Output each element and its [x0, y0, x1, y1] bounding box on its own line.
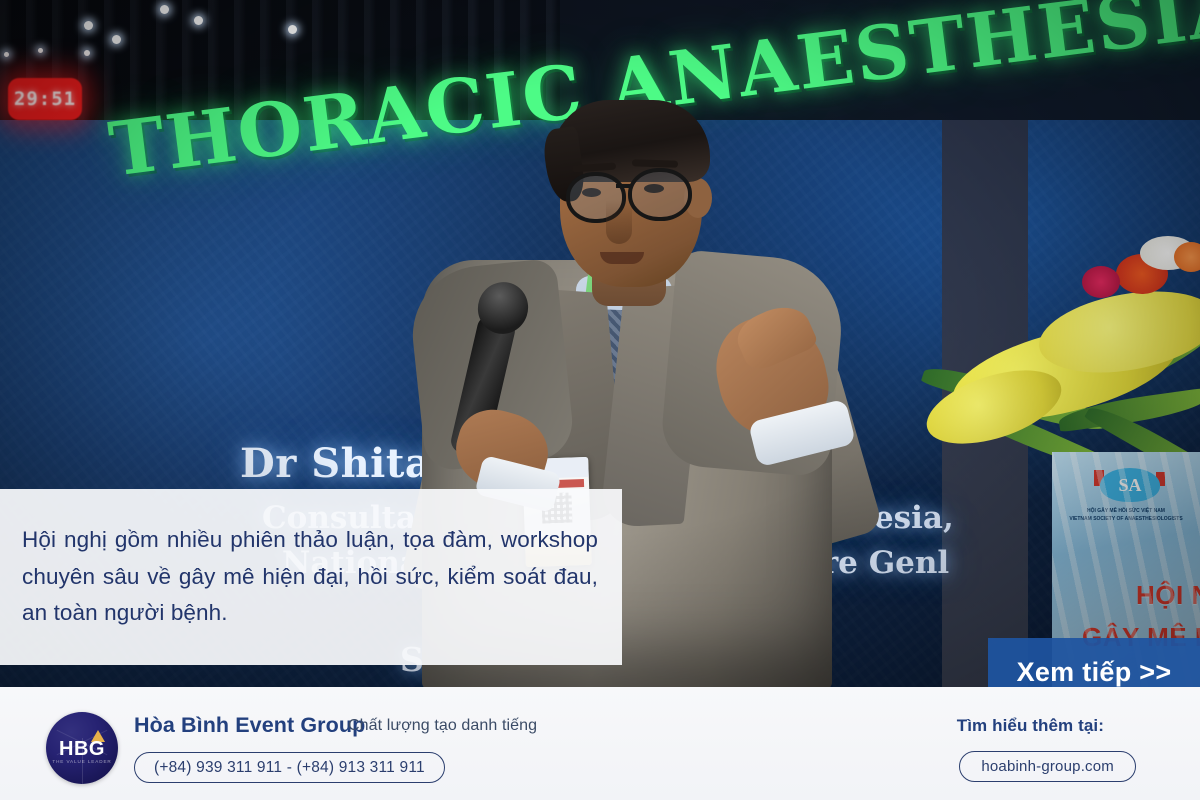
hbg-logo: HBG THE VALUE LEADER	[46, 712, 118, 784]
brand-name: Hòa Bình Event Group	[134, 713, 365, 738]
logo-tagline: THE VALUE LEADER	[46, 759, 118, 764]
phone-number-pill[interactable]: (+84) 939 311 911 - (+84) 913 311 911	[134, 752, 445, 783]
caption-text: Hội nghị gồm nhiều phiên thảo luận, tọa …	[22, 522, 598, 631]
brand-slogan: Chất lượng tạo danh tiếng	[348, 717, 537, 735]
caption-box: Hội nghị gồm nhiều phiên thảo luận, tọa …	[0, 489, 622, 665]
promo-image: THORACIC ANAESTHESIA Dr Shitalkumar Cons…	[0, 0, 1200, 800]
learn-more-label: Tìm hiểu thêm tại:	[957, 716, 1104, 736]
logo-initials: HBG	[46, 738, 118, 761]
footer-bar	[0, 687, 1200, 800]
conference-photo: THORACIC ANAESTHESIA Dr Shitalkumar Cons…	[0, 0, 1200, 687]
website-pill[interactable]: hoabinh-group.com	[959, 751, 1136, 782]
